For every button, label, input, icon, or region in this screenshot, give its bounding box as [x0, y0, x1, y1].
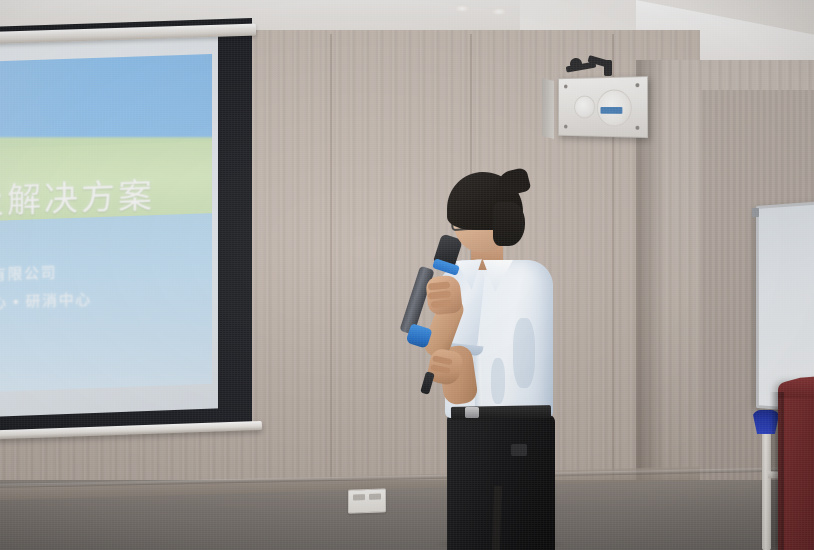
podium-shadow — [770, 392, 784, 550]
bracket-pivot — [570, 58, 582, 70]
speaker-screw — [636, 126, 640, 130]
recessed-downlight — [492, 8, 506, 15]
speaker-screw — [564, 85, 567, 89]
belt-buckle — [465, 407, 479, 418]
bracket-arm — [604, 60, 612, 76]
slide-title: 问题及解决方案 — [0, 167, 196, 226]
slide-subtitle-line-1: 蓝泰化工股份有限公司 — [0, 257, 192, 288]
hand-holding-microphone — [425, 274, 463, 315]
wall-mounted-speaker — [558, 76, 648, 138]
shirt-fold — [491, 358, 505, 404]
speaker-logo — [600, 107, 622, 114]
speaker-side-panel — [542, 78, 554, 139]
trouser-pocket — [511, 444, 527, 456]
second-microphone — [420, 371, 435, 395]
slide-brand-text: 股份 — [0, 323, 96, 365]
finger — [428, 290, 452, 299]
whiteboard-clip — [752, 208, 759, 217]
speaker-screw — [636, 83, 640, 87]
outlet-slot — [353, 494, 365, 500]
slide-subtitle-line-2: 及技术服务中心 • 研消中心 — [0, 285, 192, 316]
screen-surface: 问题及解决方案 蓝泰化工股份有限公司 及技术服务中心 • 研消中心 股份 — [0, 32, 218, 418]
wall-outlet-plate[interactable] — [348, 488, 386, 513]
recessed-downlight — [455, 5, 469, 12]
black-trousers — [447, 414, 555, 550]
finger — [428, 281, 451, 290]
speaker-bracket — [566, 58, 622, 78]
outlet-slot — [369, 494, 381, 500]
speaker-screw — [564, 125, 567, 129]
finger — [432, 355, 453, 365]
finger — [431, 299, 453, 308]
projected-slide: 问题及解决方案 蓝泰化工股份有限公司 及技术服务中心 • 研消中心 股份 — [0, 54, 212, 394]
projection-screen[interactable]: 问题及解决方案 蓝泰化工股份有限公司 及技术服务中心 • 研消中心 股份 — [0, 18, 255, 448]
wall-panel-seam — [330, 34, 332, 514]
shirt-fold — [513, 318, 535, 388]
presentation-scene: 问题及解决方案 蓝泰化工股份有限公司 及技术服务中心 • 研消中心 股份 — [0, 0, 814, 550]
speaker-driver-small — [574, 96, 595, 119]
presenter — [395, 168, 595, 550]
hair-side — [493, 202, 525, 246]
